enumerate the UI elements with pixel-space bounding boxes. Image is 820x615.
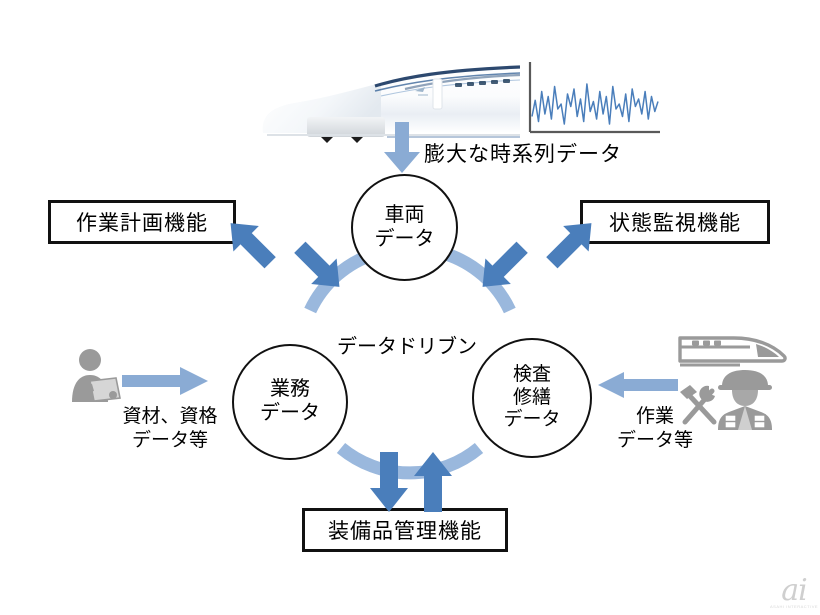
circle-business-data-line-2: データ — [260, 402, 320, 426]
person-with-clipboard-icon — [68, 348, 124, 406]
arrow-materials-to-business-data — [122, 367, 210, 395]
center-label-data-driven: データドリブン — [337, 330, 477, 359]
caption-work-data-line-2: データ等 — [590, 429, 720, 453]
arrows-vehicle-to-work-planning — [230, 200, 340, 310]
box-equipment-management[interactable]: 装備品管理機能 — [302, 508, 508, 552]
arrow-work-data-to-inspection-data — [598, 372, 678, 398]
caption-materials-line-2: データ等 — [100, 429, 240, 453]
circle-vehicle-data-line-1: 車両 — [385, 204, 425, 228]
caption-materials-line-1: 資材、資格 — [100, 405, 240, 429]
circle-inspection-data-line-3: データ — [503, 409, 560, 431]
circle-vehicle-data-line-2: データ — [375, 228, 435, 252]
circle-inspection-data-line-2: 修繕 — [513, 387, 551, 409]
caption-work-data: 作業 データ等 — [590, 405, 720, 453]
arrows-equipment-management — [368, 452, 454, 514]
circle-inspection-data: 検査 修繕 データ — [472, 338, 592, 458]
diagram-canvas: 膨大な時系列データ 車両 データ 業務 データ 検査 修繕 データ データドリブ… — [0, 0, 820, 615]
box-condition-monitoring[interactable]: 状態監視機能 — [580, 200, 770, 244]
caption-timeseries: 膨大な時系列データ — [424, 142, 622, 168]
timeseries-line-chart — [522, 58, 662, 143]
box-work-planning[interactable]: 作業計画機能 — [48, 200, 236, 244]
train-side-icon — [678, 330, 788, 372]
caption-work-data-line-1: 作業 — [590, 405, 720, 429]
circle-inspection-data-line-1: 検査 — [513, 364, 551, 386]
arrow-train-to-vehicle-data — [382, 122, 422, 174]
circle-business-data-line-1: 業務 — [270, 378, 310, 402]
arrows-vehicle-to-condition-monitoring — [482, 200, 592, 310]
watermark-subtext: ASAHI INTERACTIVE — [770, 604, 818, 609]
watermark: ai ASAHI INTERACTIVE — [770, 573, 818, 609]
circle-business-data: 業務 データ — [232, 344, 348, 460]
circle-vehicle-data: 車両 データ — [351, 174, 458, 281]
watermark-logo: ai — [770, 573, 818, 608]
caption-materials-qualification: 資材、資格 データ等 — [100, 405, 240, 453]
